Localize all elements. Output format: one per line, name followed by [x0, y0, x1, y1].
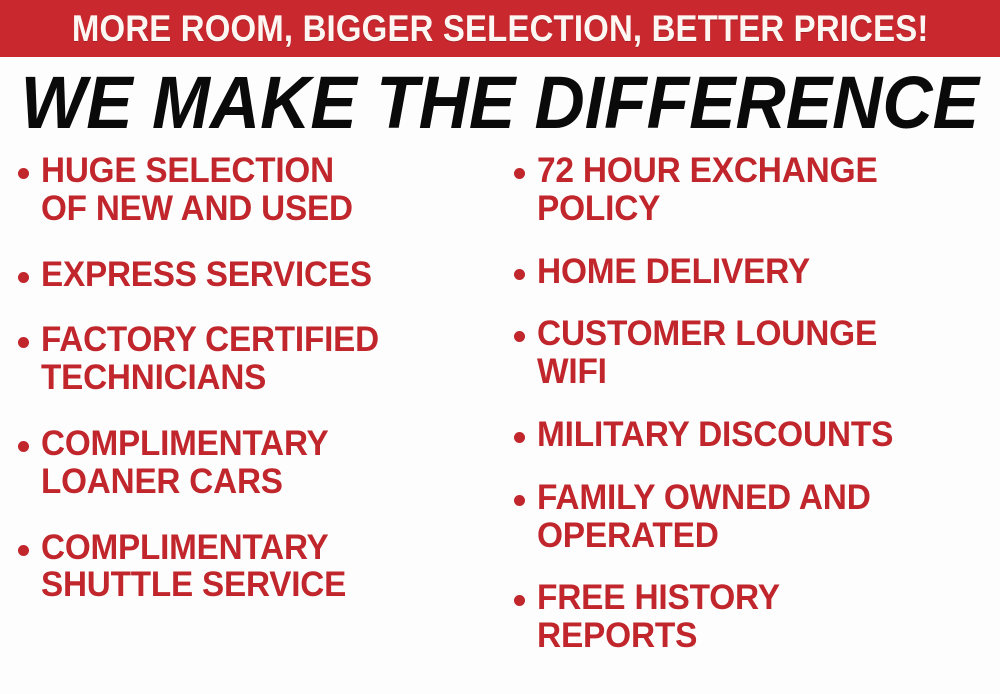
list-item: COMPLIMENTARY SHUTTLE SERVICE — [18, 529, 494, 605]
list-item-label: COMPLIMENTARY SHUTTLE SERVICE — [41, 529, 346, 605]
list-item: CUSTOMER LOUNGE WIFI — [514, 315, 998, 391]
banner-headline-text: MORE ROOM, BIGGER SELECTION, BETTER PRIC… — [72, 10, 929, 47]
list-item-label: 72 HOUR EXCHANGE POLICY — [537, 152, 878, 228]
list-item: 72 HOUR EXCHANGE POLICY — [514, 152, 998, 228]
list-item-label: EXPRESS SERVICES — [41, 256, 372, 294]
bullet-dot-icon — [18, 272, 29, 283]
top-banner: MORE ROOM, BIGGER SELECTION, BETTER PRIC… — [0, 0, 1000, 57]
list-item: EXPRESS SERVICES — [18, 256, 494, 294]
list-item-label: HOME DELIVERY — [537, 253, 810, 291]
bullet-dot-icon — [18, 441, 29, 452]
list-item: FREE HISTORY REPORTS — [514, 579, 998, 655]
bullet-dot-icon — [514, 269, 525, 280]
list-item: HUGE SELECTION OF NEW AND USED — [18, 152, 494, 228]
list-item-label: FACTORY CERTIFIED TECHNICIANS — [41, 321, 379, 397]
list-item: COMPLIMENTARY LOANER CARS — [18, 425, 494, 501]
list-item: FACTORY CERTIFIED TECHNICIANS — [18, 321, 494, 397]
bullet-dot-icon — [514, 432, 525, 443]
bullet-dot-icon — [514, 331, 525, 342]
list-item-label: FREE HISTORY REPORTS — [537, 579, 780, 655]
page-title: WE MAKE THE DIFFERENCE — [21, 66, 979, 140]
list-item-label: FAMILY OWNED AND OPERATED — [537, 479, 871, 555]
benefits-columns: HUGE SELECTION OF NEW AND USED EXPRESS S… — [0, 152, 1000, 694]
list-item-label: HUGE SELECTION OF NEW AND USED — [41, 152, 353, 228]
bullet-dot-icon — [18, 545, 29, 556]
list-item: MILITARY DISCOUNTS — [514, 416, 998, 454]
promo-poster: MORE ROOM, BIGGER SELECTION, BETTER PRIC… — [0, 0, 1000, 694]
list-item: HOME DELIVERY — [514, 253, 998, 291]
bullet-dot-icon — [514, 595, 525, 606]
benefits-column-left: HUGE SELECTION OF NEW AND USED EXPRESS S… — [0, 152, 500, 694]
benefits-column-right: 72 HOUR EXCHANGE POLICY HOME DELIVERY CU… — [500, 152, 1000, 694]
headline-container: WE MAKE THE DIFFERENCE — [0, 62, 1000, 144]
list-item-label: MILITARY DISCOUNTS — [537, 416, 893, 454]
list-item-label: COMPLIMENTARY LOANER CARS — [41, 425, 329, 501]
list-item: FAMILY OWNED AND OPERATED — [514, 479, 998, 555]
bullet-dot-icon — [514, 168, 525, 179]
bullet-dot-icon — [18, 337, 29, 348]
bullet-dot-icon — [18, 168, 29, 179]
bullet-dot-icon — [514, 495, 525, 506]
list-item-label: CUSTOMER LOUNGE WIFI — [537, 315, 877, 391]
